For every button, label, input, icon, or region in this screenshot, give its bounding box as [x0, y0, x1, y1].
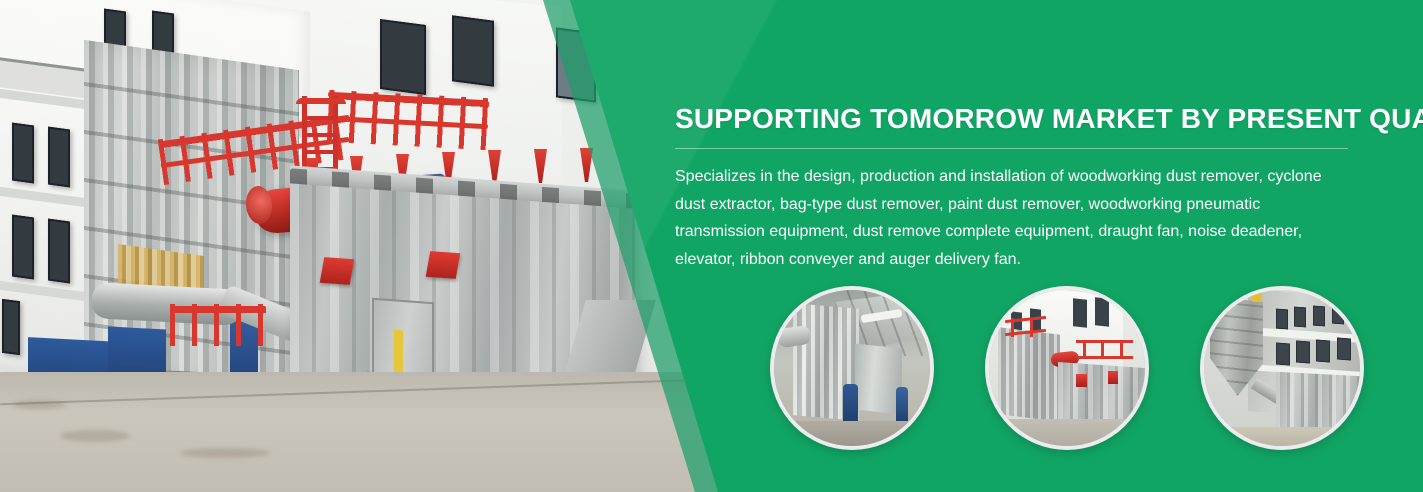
ground-stain — [60, 430, 130, 442]
ground-stain — [180, 448, 270, 458]
red-railing — [1011, 318, 1014, 337]
building-window — [12, 215, 34, 280]
building-window — [452, 15, 494, 87]
red-railing — [1083, 340, 1086, 359]
ground-stain — [12, 400, 66, 409]
banner-description: Specializes in the design, production an… — [675, 163, 1330, 273]
railing-posts — [327, 90, 490, 150]
product-banner: SUPPORTING TOMORROW MARKET BY PRESENT QU… — [0, 0, 1423, 492]
building-window — [1332, 304, 1344, 325]
red-railing — [1030, 318, 1033, 337]
thumbnail-outdoor-dust-collector[interactable] — [985, 286, 1149, 450]
yellow-hoist — [1251, 292, 1262, 303]
building-window — [1296, 341, 1310, 364]
building-window — [1316, 339, 1330, 362]
banner-content: SUPPORTING TOMORROW MARKET BY PRESENT QU… — [675, 0, 1375, 492]
red-bracket — [1076, 374, 1087, 386]
building-window — [1276, 308, 1288, 329]
building-window — [1294, 307, 1306, 328]
thumbnail-image — [1204, 290, 1360, 446]
building-window — [12, 123, 34, 184]
building-window — [1095, 297, 1109, 327]
thumbnail-silo-building[interactable] — [1200, 286, 1364, 450]
building-window — [1276, 343, 1290, 366]
thumbnail-workshop-bag-filter[interactable] — [770, 286, 934, 450]
building-window — [1313, 305, 1325, 326]
red-railing — [1101, 340, 1104, 359]
thumbnail-image — [989, 290, 1145, 446]
concrete-yard — [989, 419, 1145, 446]
building-window — [1073, 299, 1087, 329]
red-bracket — [1108, 371, 1119, 383]
building-window — [1337, 338, 1351, 361]
building-window — [380, 19, 426, 95]
red-railing — [1120, 340, 1123, 359]
red-bracket — [320, 257, 355, 285]
thumbnail-image — [774, 290, 930, 446]
thumbnail-gallery — [770, 286, 1330, 452]
banner-headline: SUPPORTING TOMORROW MARKET BY PRESENT QU… — [675, 103, 1423, 135]
building-window — [48, 127, 70, 188]
headline-divider — [675, 148, 1348, 149]
bag-house-unit — [998, 327, 1060, 422]
concrete-yard — [1204, 427, 1360, 446]
platform-railing-posts — [170, 304, 266, 346]
building-window — [48, 219, 70, 284]
workshop-floor — [774, 421, 930, 446]
secondary-filter-unit — [855, 344, 902, 414]
ladder-hoop — [296, 98, 346, 104]
red-bracket — [426, 251, 461, 279]
building-doorway — [2, 299, 20, 355]
